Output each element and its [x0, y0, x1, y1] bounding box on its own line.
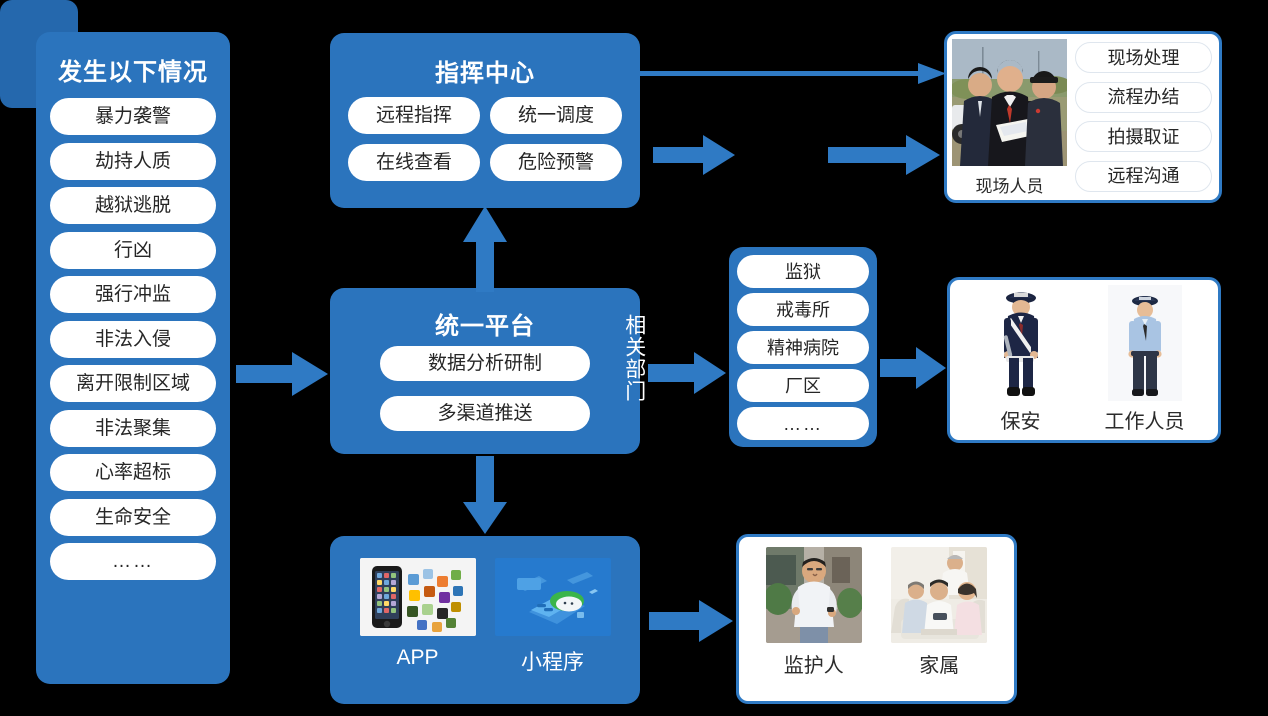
guardian-jogging-photo — [766, 547, 862, 643]
family-row: 监护人 — [751, 547, 1002, 695]
staff-worker-figure-icon — [1108, 285, 1182, 401]
venue-item-drug-rehab[interactable]: 戒毒所 — [737, 293, 869, 326]
arrow-venues-to-staff — [880, 347, 946, 389]
arrow-command-center-to-onsite — [640, 61, 946, 87]
arrow-departments-to-onsite — [828, 135, 940, 175]
onsite-photo-block: 现场人员 — [952, 39, 1067, 197]
security-guard-figure-icon — [984, 285, 1058, 401]
staff-label-worker: 工作人员 — [1105, 405, 1185, 434]
venues-panel: 监狱 戒毒所 精神病院 厂区 …… — [729, 247, 877, 447]
venue-item-more[interactable]: …… — [737, 407, 869, 440]
venue-item-prison[interactable]: 监狱 — [737, 255, 869, 288]
staff-card: 保安 — [947, 277, 1221, 443]
onsite-personnel-card: 现场人员 现场处理 流程办结 拍摄取证 远程沟通 — [944, 31, 1222, 203]
onsite-photo-caption: 现场人员 — [952, 172, 1067, 197]
family-person-guardian: 监护人 — [766, 547, 862, 678]
arrow-platform-to-channels — [463, 456, 507, 534]
onsite-action-field-handling[interactable]: 现场处理 — [1075, 42, 1212, 73]
family-card: 监护人 — [736, 534, 1017, 704]
family-label-relatives: 家属 — [919, 649, 959, 678]
venue-item-factory-zone[interactable]: 厂区 — [737, 369, 869, 402]
staff-row: 保安 — [960, 288, 1208, 434]
family-sofa-photo — [891, 547, 987, 643]
staff-person-security-guard: 保安 — [984, 285, 1058, 434]
onsite-action-process-closure[interactable]: 流程办结 — [1075, 82, 1212, 113]
staff-person-worker: 工作人员 — [1105, 285, 1185, 434]
guardian-jogging-art — [766, 547, 862, 643]
diagram-canvas: 发生以下情况 暴力袭警 劫持人质 越狱逃脱 行凶 强行冲监 非法入侵 离开限制区… — [0, 0, 1268, 716]
venue-item-psychiatric-hospital[interactable]: 精神病院 — [737, 331, 869, 364]
arrow-platform-to-command-center — [463, 206, 507, 292]
police-officials-art — [952, 39, 1067, 166]
staff-label-security-guard: 保安 — [1001, 405, 1041, 434]
family-person-relatives: 家属 — [891, 547, 987, 678]
arrow-platform-to-venues — [648, 352, 726, 394]
venues-list: 监狱 戒毒所 精神病院 厂区 …… — [737, 255, 869, 440]
arrow-channels-to-family — [649, 600, 733, 642]
onsite-actions: 现场处理 流程办结 拍摄取证 远程沟通 — [1075, 42, 1212, 192]
family-label-guardian: 监护人 — [784, 649, 844, 678]
onsite-action-remote-communication[interactable]: 远程沟通 — [1075, 161, 1212, 192]
family-sofa-art — [891, 547, 987, 643]
arrow-sidebar-to-platform — [236, 352, 328, 396]
onsite-action-photo-evidence[interactable]: 拍摄取证 — [1075, 121, 1212, 152]
arrow-command-center-to-departments — [653, 135, 735, 175]
police-officials-photo — [952, 39, 1067, 166]
related-departments-box[interactable]: 相关部门 — [0, 0, 78, 108]
